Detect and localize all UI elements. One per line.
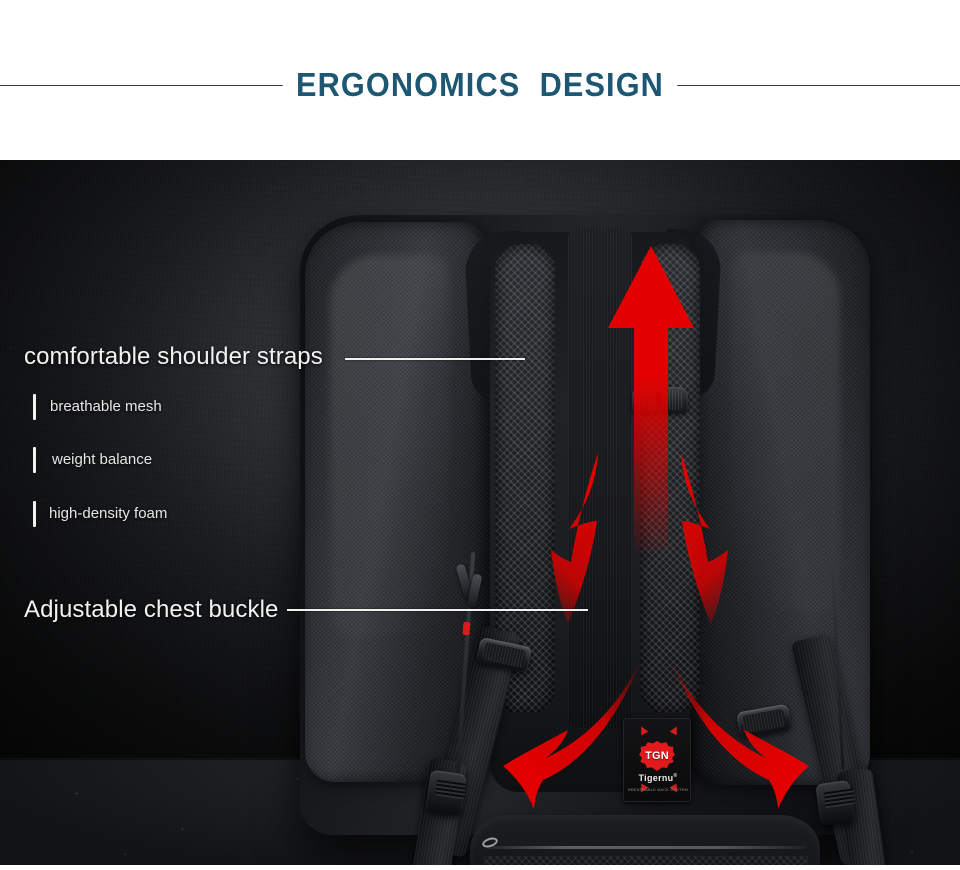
brand-name-text: Tigernu®	[624, 773, 691, 783]
callout-shoulder-straps-label: comfortable shoulder straps	[24, 343, 323, 371]
brand-subtext: BREATHABLE BACK SYSTEM	[624, 787, 691, 792]
slider-inner	[742, 708, 786, 733]
product-photo: TGN Tigernu® BREATHABLE BACK SYSTEM comf…	[0, 160, 960, 865]
page-title: ERGONOMICS DESIGN	[34, 60, 927, 110]
tag-arrow-up-left-icon	[638, 725, 649, 736]
slider-inner	[482, 642, 527, 668]
callout-chest-buckle-leader-line	[287, 609, 588, 611]
brand-name-value: Tigernu	[639, 773, 674, 783]
registered-mark: ®	[673, 773, 677, 779]
red-zipper-accent	[462, 622, 470, 636]
lumbar-zipper-line	[486, 846, 806, 849]
top-carry-handle	[632, 387, 688, 413]
buckle-slot	[823, 788, 855, 808]
feature-bullet-bar-1	[33, 394, 36, 420]
right-strap-adjuster-buckle	[815, 780, 855, 826]
tag-arrow-up-right-icon	[670, 725, 681, 736]
right-pad-highlight	[730, 252, 840, 612]
bottom-white-strip	[0, 865, 960, 870]
page-header: ERGONOMICS DESIGN	[0, 0, 960, 160]
callout-chest-buckle-label: Adjustable chest buckle	[24, 596, 278, 624]
buckle-slot	[435, 780, 467, 800]
feature-label-breathable-mesh: breathable mesh	[50, 398, 162, 415]
page-title-text: ERGONOMICS DESIGN	[283, 66, 677, 103]
brand-logo-tag: TGN Tigernu® BREATHABLE BACK SYSTEM	[623, 718, 691, 802]
left-strap-adjuster-buckle	[425, 770, 466, 817]
product-feature-page: ERGONOMICS DESIGN	[0, 0, 960, 870]
left-pad-highlight	[330, 255, 450, 635]
feature-label-high-density-foam: high-density foam	[49, 505, 167, 522]
lumbar-mesh-texture	[484, 856, 808, 865]
callout-shoulder-straps-leader-line	[345, 358, 525, 360]
brand-mark-text: TGN	[645, 750, 669, 762]
feature-bullet-bar-3	[33, 501, 36, 527]
feature-label-weight-balance: weight balance	[52, 451, 152, 468]
mesh-column-right	[640, 244, 700, 714]
brand-starburst-badge: TGN	[639, 741, 675, 771]
handle-ribbing	[636, 390, 684, 410]
center-spine-channel	[568, 228, 632, 728]
feature-bullet-bar-2	[33, 447, 36, 473]
